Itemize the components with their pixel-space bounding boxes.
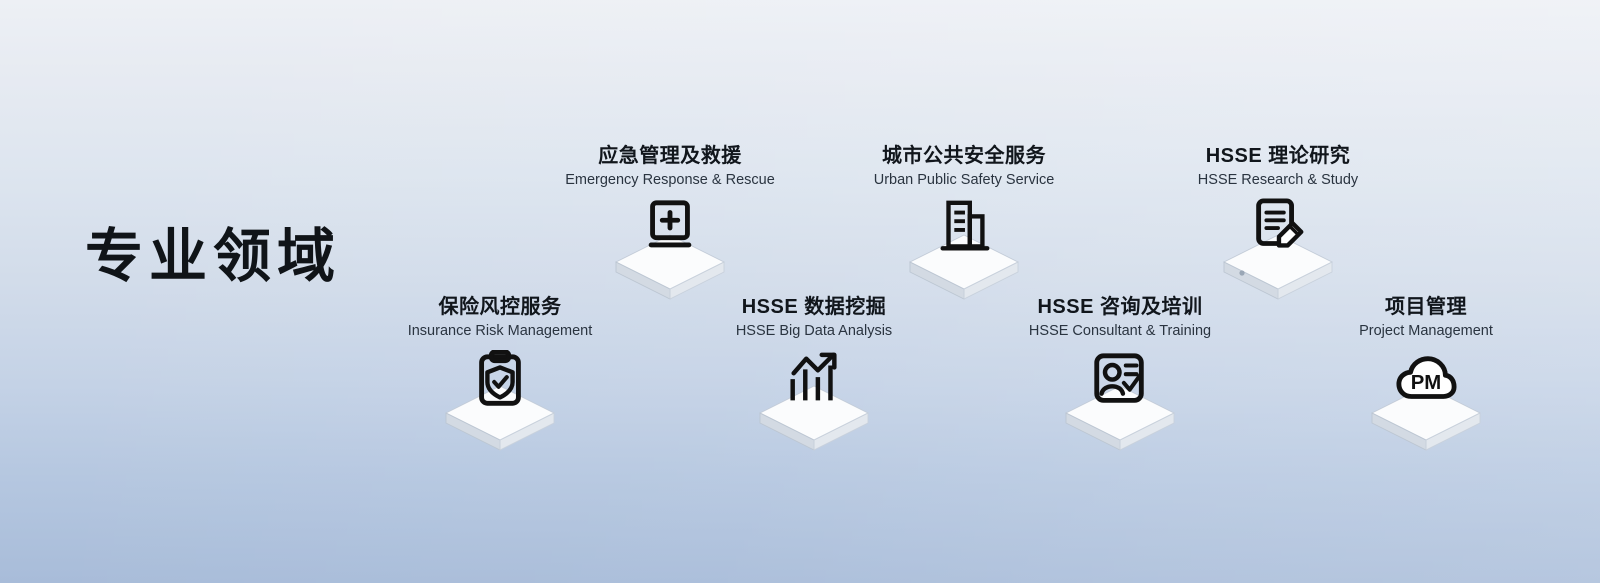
id-card-person-check-icon (1089, 350, 1151, 412)
domain-label-en: HSSE Big Data Analysis (664, 322, 964, 342)
domain-card-insurance-risk[interactable]: 保险风控服务 Insurance Risk Management (350, 295, 650, 460)
domain-label-en: Emergency Response & Rescue (520, 171, 820, 191)
document-pencil-icon (1247, 197, 1309, 259)
domain-label-en: HSSE Research & Study (1128, 171, 1428, 191)
domain-tile (350, 350, 650, 460)
domain-tile (970, 350, 1270, 460)
domain-tile (1128, 199, 1428, 309)
professional-domains-banner: 专业领域 应急管理及救援 Emergency Response & Rescue (0, 0, 1600, 583)
domain-label-cn: 城市公共安全服务 (814, 144, 1114, 168)
domain-label-cn: HSSE 数据挖掘 (664, 295, 964, 319)
clipboard-shield-check-icon (469, 350, 531, 412)
domain-label-cn: HSSE 咨询及培训 (970, 295, 1270, 319)
domain-card-urban-public-safety[interactable]: 城市公共安全服务 Urban Public Safety Service (814, 144, 1114, 309)
cloud-pm-label: PM (1411, 371, 1442, 393)
city-buildings-icon (933, 197, 995, 259)
domain-label-cn: 项目管理 (1276, 295, 1576, 319)
domain-card-emergency-response[interactable]: 应急管理及救援 Emergency Response & Rescue (520, 144, 820, 309)
domain-label-cn: 保险风控服务 (350, 295, 650, 319)
domain-label-en: Insurance Risk Management (350, 322, 650, 342)
domain-tile (814, 199, 1114, 309)
domain-label-en: HSSE Consultant & Training (970, 322, 1270, 342)
monitor-plus-icon (639, 197, 701, 259)
domain-card-hsse-big-data[interactable]: HSSE 数据挖掘 HSSE Big Data Analysis (664, 295, 964, 460)
domain-card-hsse-consultant[interactable]: HSSE 咨询及培训 HSSE Consultant & Training (970, 295, 1270, 460)
page-title: 专业领域 (85, 228, 341, 286)
domain-card-project-management[interactable]: 项目管理 Project Management PM (1276, 295, 1576, 460)
domain-label-cn: HSSE 理论研究 (1128, 144, 1428, 168)
domain-tile: PM (1276, 350, 1576, 460)
domain-label-en: Urban Public Safety Service (814, 171, 1114, 191)
cloud-pm-icon: PM (1395, 350, 1457, 412)
domain-tile (664, 350, 964, 460)
domain-label-cn: 应急管理及救援 (520, 144, 820, 168)
domain-tile (520, 199, 820, 309)
bar-chart-trend-icon (783, 350, 845, 412)
domain-card-hsse-research[interactable]: HSSE 理论研究 HSSE Research & Study (1128, 144, 1428, 309)
domain-label-en: Project Management (1276, 322, 1576, 342)
